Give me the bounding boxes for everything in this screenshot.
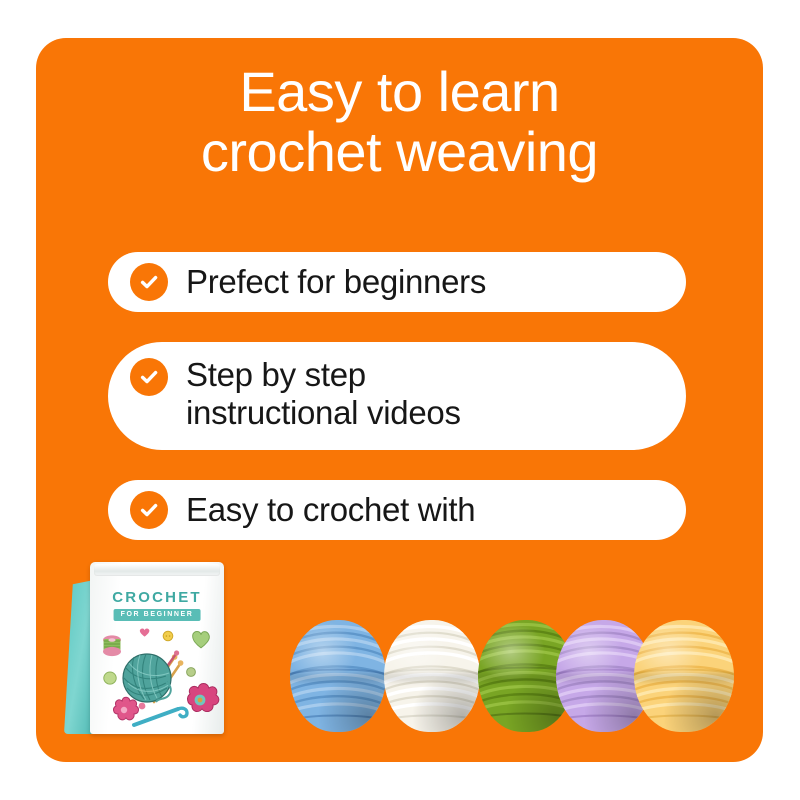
yarn-ball-yellow (634, 620, 734, 732)
page-title: Easy to learn crochet weaving (36, 62, 763, 183)
product-photo-row: CROCHET FOR BEGINNER (36, 562, 763, 762)
thread-spool-icon (103, 635, 121, 656)
heart-icon (193, 631, 210, 647)
flower-icon (114, 697, 139, 720)
flower-icon (188, 684, 219, 712)
button-icon (163, 631, 173, 641)
feature-label-line-2: instructional videos (186, 394, 461, 431)
package-illustration (90, 620, 224, 732)
feature-pill-easy-to-crochet-with[interactable]: Easy to crochet with (108, 480, 686, 540)
dot-icon (139, 703, 146, 710)
heart-icon (140, 629, 150, 637)
feature-pill-step-by-step-videos[interactable]: Step by step instructional videos (108, 342, 686, 450)
check-circle-icon (130, 491, 168, 529)
button-icon (187, 668, 196, 677)
headline-line-2: crochet weaving (60, 122, 739, 182)
yarn-ball-illustration (123, 654, 171, 702)
check-circle-icon (130, 263, 168, 301)
feature-label: Step by step instructional videos (186, 356, 461, 431)
orange-content-panel: Easy to learn crochet weaving Prefect fo… (36, 38, 763, 762)
feature-label: Prefect for beginners (186, 263, 486, 301)
crochet-kit-package: CROCHET FOR BEGINNER (64, 562, 224, 734)
package-title: CROCHET (90, 589, 224, 606)
headline-line-1: Easy to learn (60, 62, 739, 122)
feature-pill-perfect-for-beginners[interactable]: Prefect for beginners (108, 252, 686, 312)
check-circle-icon (130, 358, 168, 396)
product-feature-graphic: Easy to learn crochet weaving Prefect fo… (0, 0, 800, 800)
feature-label: Easy to crochet with (186, 491, 475, 529)
feature-label-line-1: Step by step (186, 356, 366, 393)
crochet-hook-icon (134, 708, 187, 725)
package-top-seal (94, 564, 220, 576)
package-front-face: CROCHET FOR BEGINNER (90, 562, 224, 734)
leaf-icon (104, 672, 116, 684)
package-badge: FOR BEGINNER (114, 609, 201, 621)
yarn-ball-blue (290, 620, 386, 732)
yarn-ball-cream (384, 620, 480, 732)
